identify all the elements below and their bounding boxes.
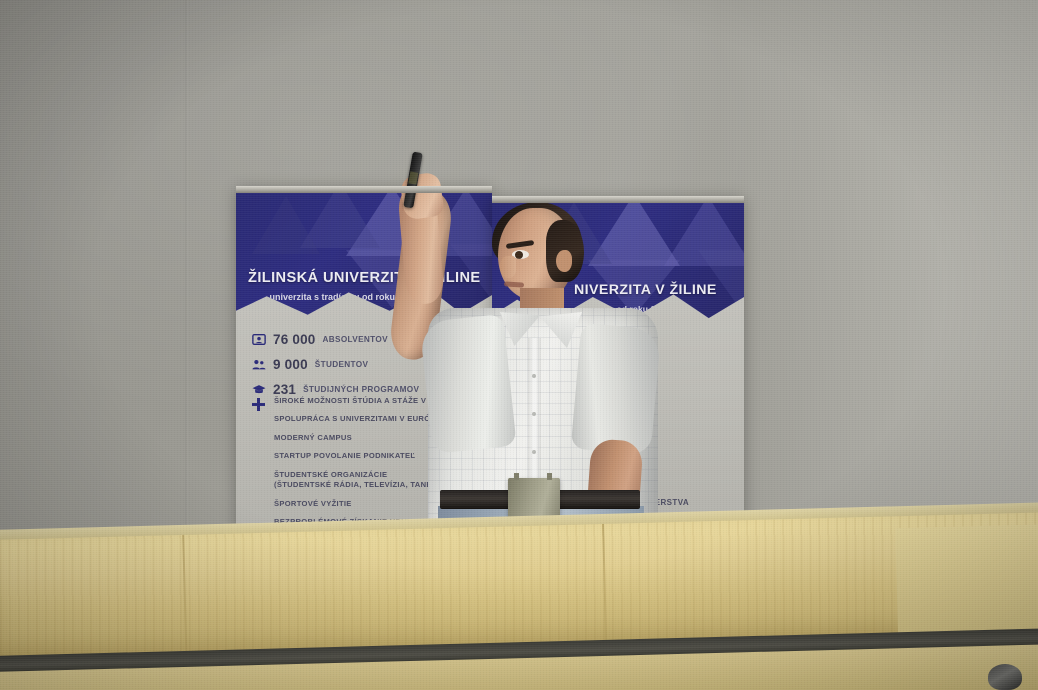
shirt-button — [532, 450, 536, 454]
ear — [556, 250, 572, 272]
banner-right-rail — [492, 196, 744, 203]
nose — [500, 256, 516, 278]
left-sleeve — [419, 314, 516, 454]
lecture-desk — [0, 502, 1038, 690]
shirt-button — [532, 412, 536, 416]
wall-seam — [185, 0, 188, 560]
floor-object — [988, 664, 1022, 690]
mouth — [504, 281, 524, 287]
banner-left-rail — [236, 186, 492, 193]
shirt-button — [532, 374, 536, 378]
stat-label: ABSOLVENTOV — [323, 335, 388, 344]
graduate-badge-icon — [252, 333, 266, 346]
mortarboard-icon — [252, 383, 266, 396]
photo-scene: ŽILINSKÁ UNIVERZITA V ŽILINE ...univerzi… — [0, 0, 1038, 690]
right-sleeve — [571, 323, 662, 455]
plus-icon — [252, 398, 265, 411]
desk-right-step — [895, 524, 1038, 638]
stat-number: 9 000 — [273, 357, 308, 372]
stat-number: 76 000 — [273, 332, 316, 347]
people-icon — [252, 358, 266, 371]
presenter — [380, 168, 680, 568]
stat-label: ŠTUDENTOV — [315, 360, 369, 369]
stat-number: 231 — [273, 382, 296, 397]
